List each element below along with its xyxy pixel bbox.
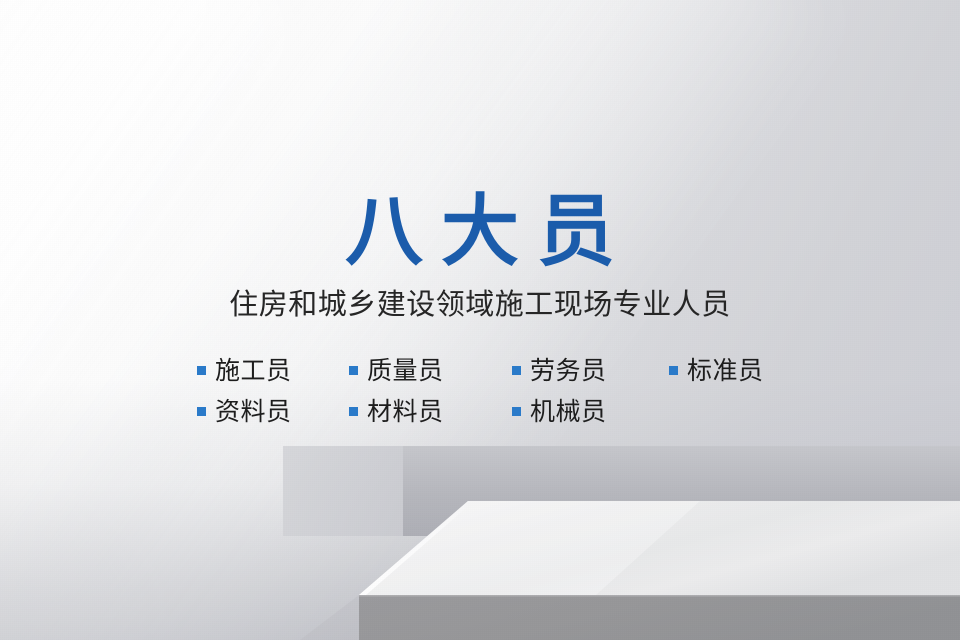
role-label: 资料员	[215, 398, 292, 426]
role-label: 材料员	[367, 398, 444, 426]
square-bullet-icon	[197, 407, 206, 416]
role-label: 劳务员	[530, 357, 607, 385]
page-subtitle: 住房和城乡建设领域施工现场专业人员	[0, 287, 960, 321]
role-label: 机械员	[530, 398, 607, 426]
square-bullet-icon	[669, 366, 678, 375]
roles-list: 施工员 质量员 劳务员 标准员 资料员 材料员	[197, 350, 797, 432]
square-bullet-icon	[512, 366, 521, 375]
role-item-laowuyuan[interactable]: 劳务员	[512, 357, 669, 385]
role-item-jixieyuan[interactable]: 机械员	[512, 398, 669, 426]
role-item-ziliaoyuan[interactable]: 资料员	[197, 398, 349, 426]
role-item-shigongyuan[interactable]: 施工员	[197, 357, 349, 385]
square-bullet-icon	[349, 407, 358, 416]
square-bullet-icon	[349, 366, 358, 375]
role-label: 标准员	[687, 357, 764, 385]
poster-content: 八大员 住房和城乡建设领域施工现场专业人员 施工员 质量员 劳务员 标准员	[0, 0, 960, 640]
role-label: 质量员	[367, 357, 444, 385]
role-item-zhiliangyuan[interactable]: 质量员	[349, 357, 512, 385]
role-label: 施工员	[215, 357, 292, 385]
role-item-biaozhunyuan[interactable]: 标准员	[669, 357, 797, 385]
role-item-cailiaoyuan[interactable]: 材料员	[349, 398, 512, 426]
square-bullet-icon	[197, 366, 206, 375]
page-title: 八大员	[0, 186, 960, 278]
poster-canvas: 八大员 住房和城乡建设领域施工现场专业人员 施工员 质量员 劳务员 标准员	[0, 0, 960, 640]
square-bullet-icon	[512, 407, 521, 416]
